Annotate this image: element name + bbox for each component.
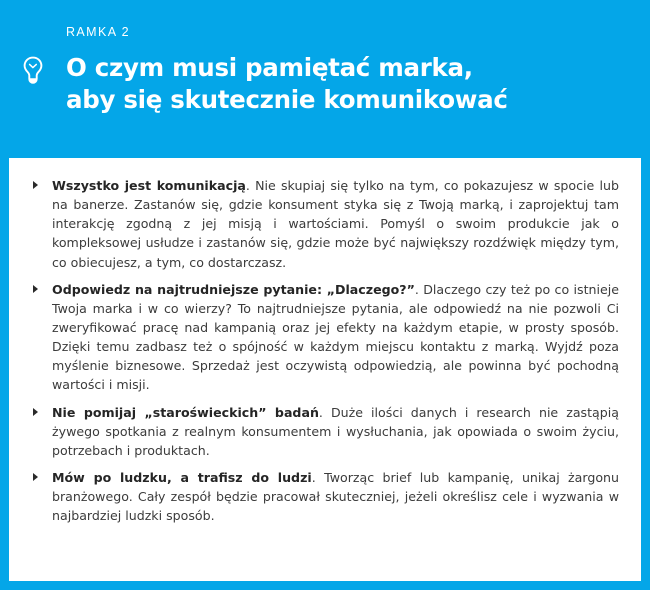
- lightbulb-icon-wrapper: [0, 26, 66, 86]
- list-item-lead: Mów po ludzku, a trafisz do ludzi: [52, 470, 312, 485]
- list-item-lead: Nie pomijaj „staroświeckich” badań: [52, 405, 319, 420]
- bullet-list: Wszystko jest komunikacją. Nie skupiaj s…: [31, 176, 619, 525]
- list-item: Nie pomijaj „staroświeckich” badań. Duże…: [31, 403, 619, 460]
- list-item-lead: Wszystko jest komunikacją: [52, 178, 246, 193]
- triangle-right-icon: [33, 181, 38, 189]
- page-title-line-2: aby się skutecznie komunikować: [66, 84, 630, 116]
- info-box: RAMKA 2 O czym musi pamiętać marka, aby …: [0, 0, 650, 590]
- list-item: Odpowiedz na najtrudniejsze pytanie: „Dl…: [31, 280, 619, 395]
- lightbulb-icon: [22, 56, 44, 86]
- header-text-block: RAMKA 2 O czym musi pamiętać marka, aby …: [66, 26, 650, 116]
- box-body: Wszystko jest komunikacją. Nie skupiaj s…: [0, 158, 650, 590]
- triangle-right-icon: [33, 285, 38, 293]
- page-title-line-1: O czym musi pamiętać marka,: [66, 52, 630, 84]
- page-title: O czym musi pamiętać marka, aby się skut…: [66, 52, 630, 117]
- triangle-right-icon: [33, 473, 38, 481]
- box-header: RAMKA 2 O czym musi pamiętać marka, aby …: [0, 0, 650, 158]
- list-item-lead: Odpowiedz na najtrudniejsze pytanie: „Dl…: [52, 282, 415, 297]
- list-item: Wszystko jest komunikacją. Nie skupiaj s…: [31, 176, 619, 272]
- list-item-text: . Dlaczego czy też po co istnieje Twoja …: [52, 282, 619, 393]
- box-kicker: RAMKA 2: [66, 26, 630, 39]
- triangle-right-icon: [33, 408, 38, 416]
- content-panel: Wszystko jest komunikacją. Nie skupiaj s…: [9, 158, 641, 581]
- list-item: Mów po ludzku, a trafisz do ludzi. Tworz…: [31, 468, 619, 525]
